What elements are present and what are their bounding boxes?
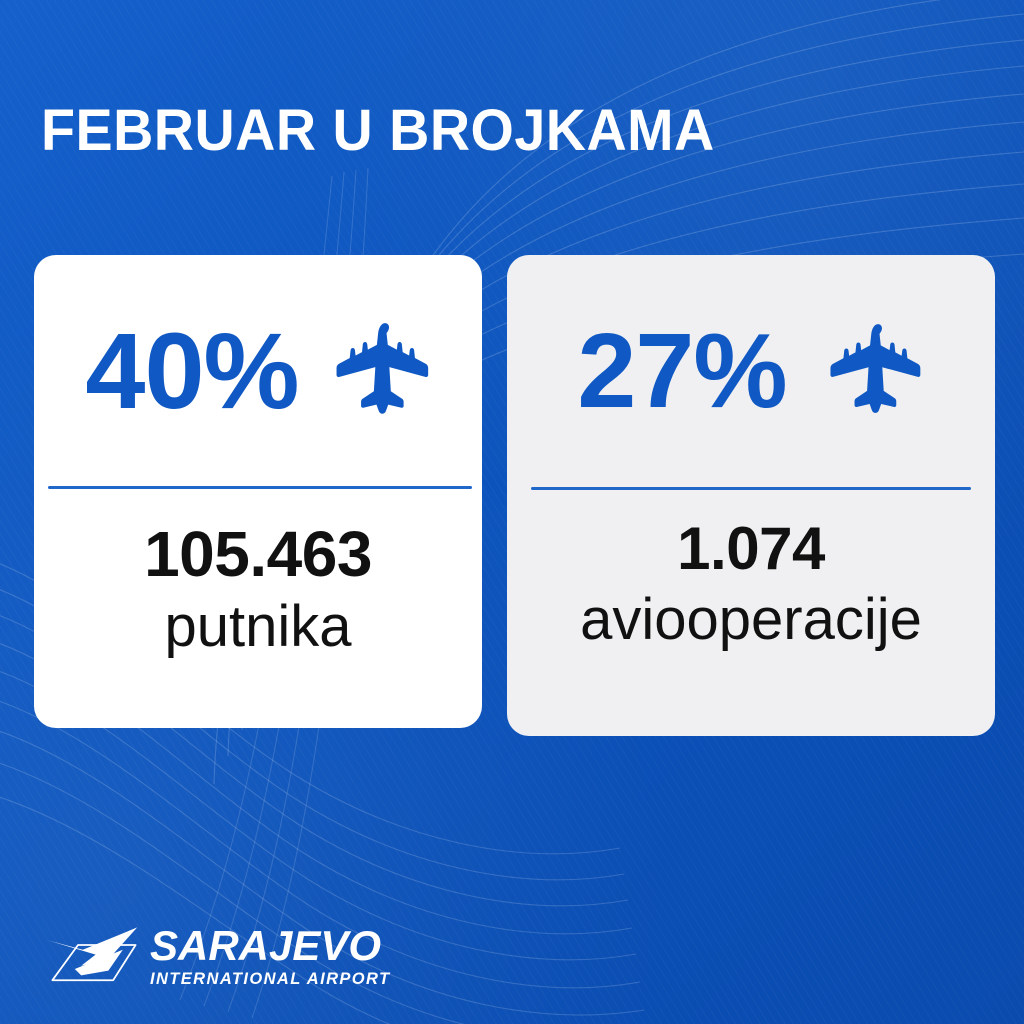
page-title: FEBRUAR U BROJKAMA xyxy=(41,101,715,161)
operations-percent: 27% xyxy=(577,318,786,424)
airport-logo-name: SARAJEVO xyxy=(150,925,391,967)
stat-card-passengers-header: 40% xyxy=(34,255,482,486)
passengers-value: 105.463 xyxy=(144,517,372,591)
infographic-canvas: FEBRUAR U BROJKAMA 40% 105.463 putnika 2… xyxy=(0,0,1024,1024)
passengers-unit: putnika xyxy=(164,591,351,663)
operations-value: 1.074 xyxy=(677,514,825,584)
stat-card-passengers: 40% 105.463 putnika xyxy=(34,255,482,728)
bird-wing-icon xyxy=(46,922,142,992)
passengers-percent: 40% xyxy=(85,317,298,425)
airport-logo-subtitle: INTERNATIONAL AIRPORT xyxy=(150,969,391,989)
operations-unit: aviooperacije xyxy=(580,584,922,656)
stat-card-operations: 27% 1.074 aviooperacije xyxy=(507,255,995,736)
airport-logo-wordmark: SARAJEVO INTERNATIONAL AIRPORT xyxy=(150,925,391,989)
stat-card-operations-body: 1.074 aviooperacije xyxy=(507,490,995,736)
airport-logo: SARAJEVO INTERNATIONAL AIRPORT xyxy=(46,922,391,992)
stat-card-passengers-body: 105.463 putnika xyxy=(34,489,482,728)
airplane-icon xyxy=(333,319,437,423)
stat-card-operations-header: 27% xyxy=(507,255,995,487)
airplane-icon xyxy=(827,320,929,422)
